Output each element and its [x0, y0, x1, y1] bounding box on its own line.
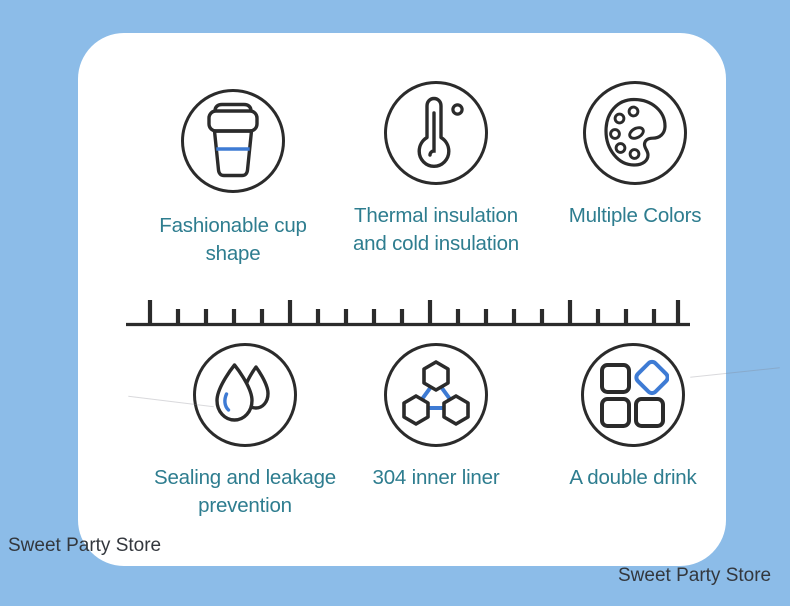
feature-label: Fashionable cup shape: [159, 212, 306, 268]
feature-card: Fashionable cup shape Thermal insulation…: [78, 33, 726, 566]
watermark-right: Sweet Party Store: [618, 565, 771, 587]
ruler-divider: [126, 293, 690, 333]
feature-item-sealing-leakage-prevention[interactable]: Sealing and leakage prevention: [140, 343, 350, 520]
feature-item-304-inner-liner[interactable]: 304 inner liner: [346, 343, 526, 492]
water-droplets-icon: [193, 343, 297, 447]
watermark-left: Sweet Party Store: [8, 535, 161, 557]
thermometer-icon: [384, 81, 488, 185]
feature-item-multiple-colors[interactable]: Multiple Colors: [545, 81, 725, 230]
feature-label: Sealing and leakage prevention: [154, 464, 336, 520]
coffee-cup-icon: [181, 89, 285, 193]
feature-item-fashionable-cup-shape[interactable]: Fashionable cup shape: [140, 89, 326, 268]
ruler-svg: [126, 293, 690, 333]
four-squares-icon: [581, 343, 685, 447]
feature-label: Thermal insulation and cold insulation: [353, 202, 519, 258]
hexagon-molecule-icon: [384, 343, 488, 447]
feature-label: A double drink: [569, 464, 696, 492]
feature-item-thermal-insulation[interactable]: Thermal insulation and cold insulation: [331, 81, 541, 258]
feature-label: 304 inner liner: [373, 464, 500, 492]
feature-item-a-double-drink[interactable]: A double drink: [540, 343, 726, 492]
paint-palette-icon: [583, 81, 687, 185]
feature-grid: Fashionable cup shape Thermal insulation…: [78, 33, 726, 566]
feature-label: Multiple Colors: [569, 202, 702, 230]
